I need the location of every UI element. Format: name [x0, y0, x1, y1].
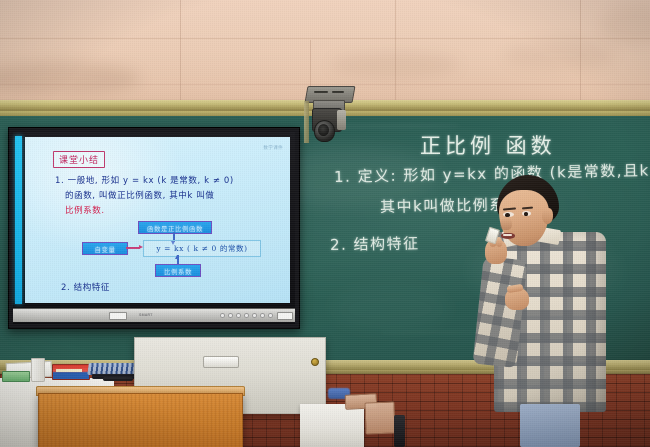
board-title: 正比例 函数 — [420, 130, 556, 160]
slide-paragraph-line-1: 1. 一般地, 形如 y = kx (k 是常数, k ≠ 0) — [55, 177, 234, 186]
slide-formula-box: y = kx ( k ≠ 0 的常数) — [143, 240, 261, 257]
slide-watermark: 数学课件 — [263, 145, 283, 151]
slide-paragraph-line-2: 的函数, 叫做正比例函数, 其中k 叫做 — [65, 192, 214, 201]
board-eraser-2 — [364, 401, 395, 434]
slide-diagram-bottom-box: 比例系数 — [155, 264, 201, 277]
cup — [31, 358, 45, 382]
whiteboard-button-right[interactable] — [277, 312, 293, 320]
slide-diagram-top-box: 函数是正比例函数 — [138, 221, 212, 234]
chalk-box — [52, 364, 90, 380]
whiteboard-button-left[interactable] — [109, 312, 127, 320]
projected-slide: 数学课件 课堂小结 1. 一般地, 形如 y = kx (k 是常数, k ≠ … — [25, 137, 290, 303]
slide-header-label: 课堂小结 — [53, 151, 105, 168]
interactive-whiteboard[interactable]: 数学课件 课堂小结 1. 一般地, 形如 y = kx (k 是常数, k ≠ … — [8, 127, 300, 329]
board-line-3: 2. 结构特征 — [330, 232, 420, 255]
classroom-photo: 正比例 函数 1. 定义: 形如 y=kx 的函数 (k是常数,且k≠0) 其中… — [0, 0, 650, 447]
slide-diagram-left-box: 自变量 — [82, 242, 128, 255]
whiteboard-control-strip[interactable]: SMART — [13, 308, 295, 322]
jeans — [520, 404, 580, 447]
green-box — [2, 371, 30, 382]
eye — [505, 213, 510, 217]
whiteboard-brand-label: SMART — [139, 313, 153, 317]
side-counter — [300, 404, 364, 447]
cabinet-lock[interactable] — [311, 358, 319, 366]
cabinet-handle[interactable] — [203, 356, 239, 368]
whiteboard-accent-stripe — [15, 136, 22, 304]
slide-footer-line: 2. 结构特征 — [61, 284, 110, 293]
slide-paragraph-line-3: 比例系数. — [65, 207, 105, 216]
wooden-podium — [38, 393, 243, 447]
ear — [542, 208, 553, 224]
